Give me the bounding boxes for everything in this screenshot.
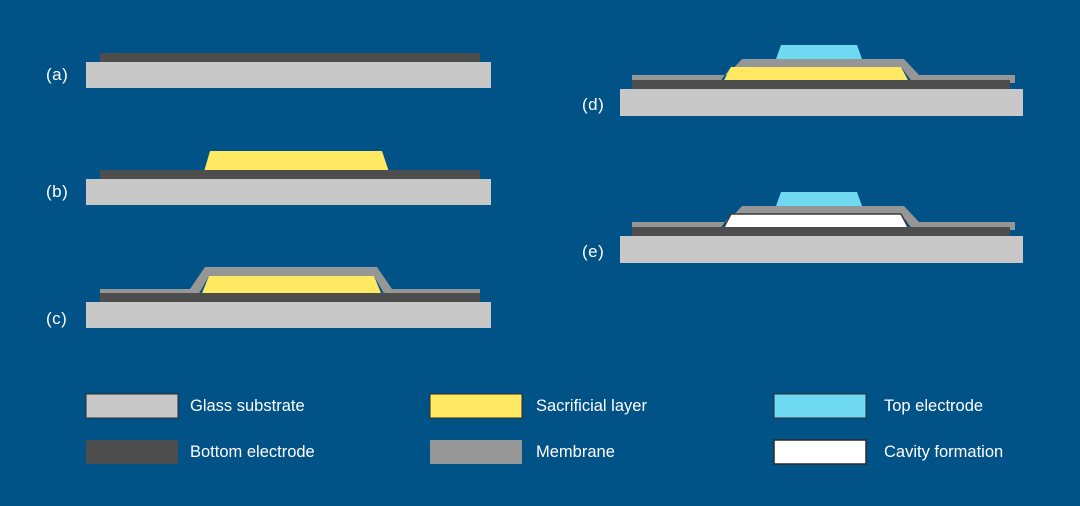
legend-label-cavity-formation: Cavity formation: [884, 443, 1003, 462]
legend-swatch-sacrificial-layer: [430, 394, 522, 418]
panel-c-glass-substrate: [86, 302, 491, 328]
panel-e-group: [620, 192, 1023, 263]
panel-a-group: [86, 53, 491, 88]
panel-label-a: (a): [46, 65, 68, 85]
panel-label-e: (e): [582, 242, 604, 262]
panel-b-group: [86, 151, 491, 205]
process-flow-diagram: [0, 0, 1080, 506]
panel-d-top-electrode: [776, 45, 862, 59]
panel-label-c: (c): [46, 309, 67, 329]
legend-label-membrane: Membrane: [536, 443, 615, 462]
legend-label-sacrificial-layer: Sacrificial layer: [536, 397, 647, 416]
panel-b-glass-substrate: [86, 179, 491, 205]
legend-swatch-cavity-formation: [774, 440, 866, 464]
panel-label-d: (d): [582, 95, 604, 115]
panel-e-top-electrode: [776, 192, 862, 206]
process-flow-figure: (a) (b) (c) (d) (e) Glass substrate Bott…: [0, 0, 1080, 506]
panel-a-glass-substrate: [86, 62, 491, 88]
legend-swatch-membrane: [430, 440, 522, 464]
legend-label-top-electrode: Top electrode: [884, 397, 983, 416]
legend-swatch-bottom-electrode: [86, 440, 178, 464]
legend-swatch-glass-substrate: [86, 394, 178, 418]
legend-label-bottom-electrode: Bottom electrode: [190, 443, 315, 462]
panel-d-glass-substrate: [620, 89, 1023, 116]
panel-e-glass-substrate: [620, 236, 1023, 263]
legend-label-glass-substrate: Glass substrate: [190, 397, 305, 416]
panel-label-b: (b): [46, 182, 68, 202]
panel-c-group: [86, 267, 491, 328]
panel-d-group: [620, 45, 1023, 116]
legend-swatch-top-electrode: [774, 394, 866, 418]
